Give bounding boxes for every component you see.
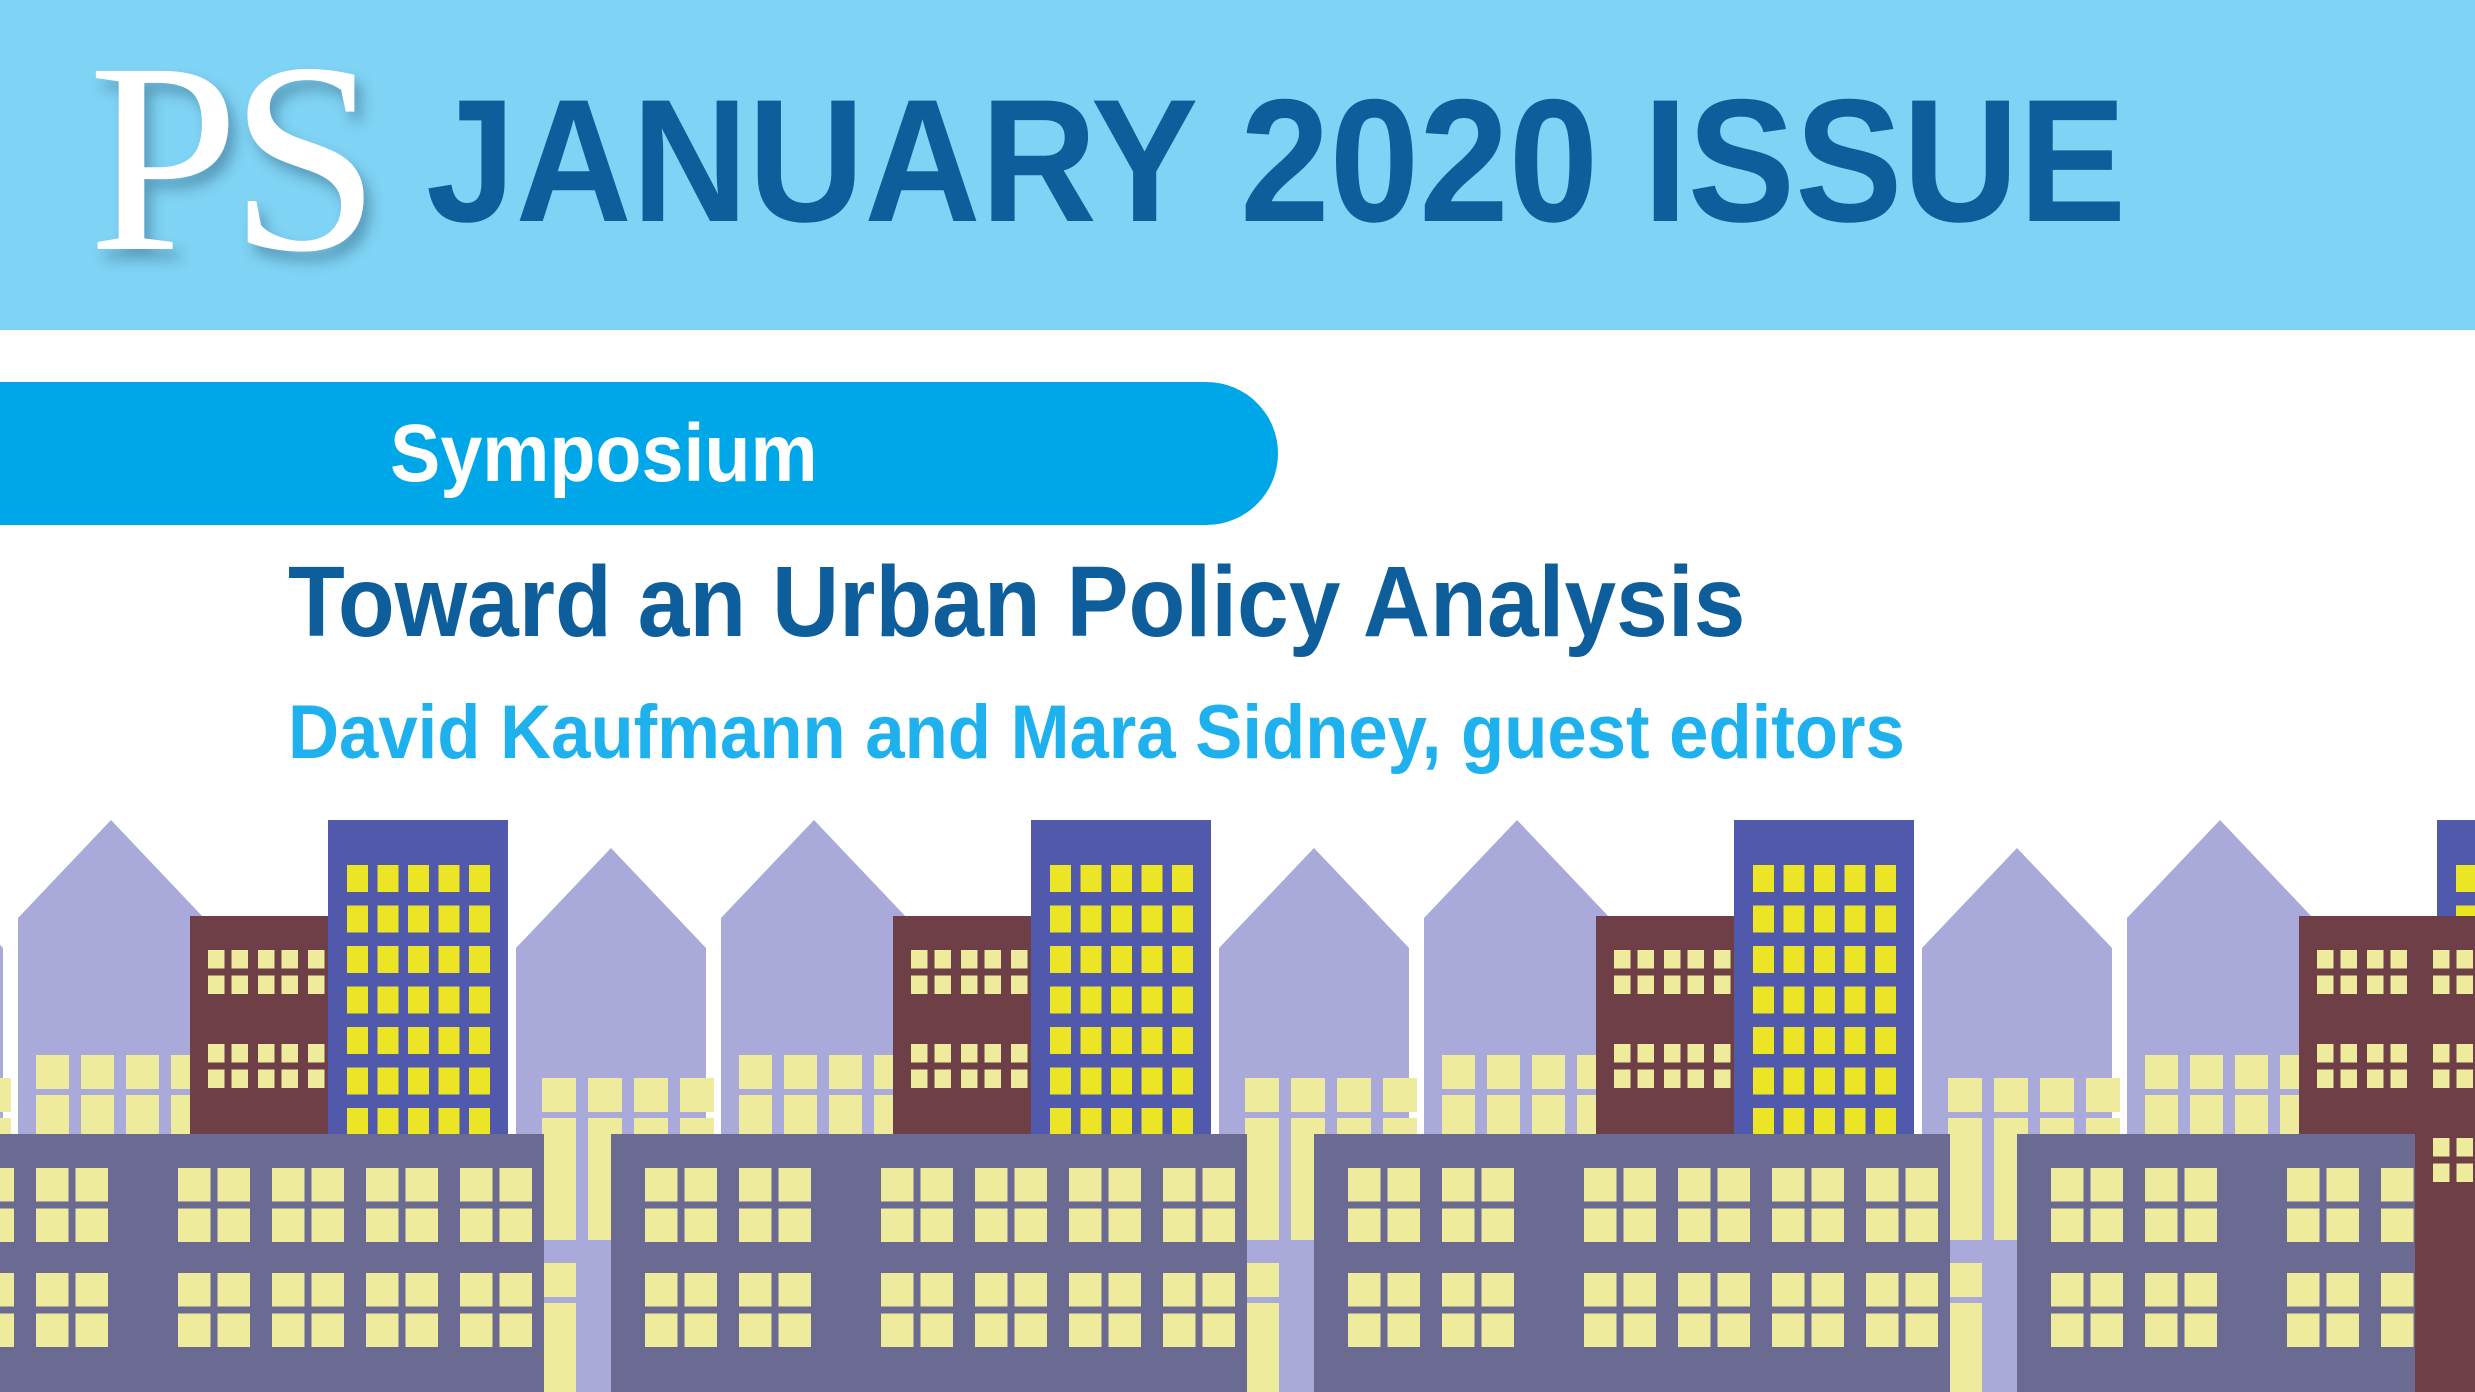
ps-wordmark-logo: PS [88,22,371,294]
building-maroon-midrise [2415,916,2475,1392]
building-slate-foreground-block [144,1134,544,1392]
issue-date-title: JANUARY 2020 ISSUE [426,74,2126,249]
issue-cover: PS JANUARY 2020 ISSUE Symposium Toward a… [0,0,2475,1392]
cityscape-illustration [0,820,2475,1392]
symposium-badge-label: Symposium [390,413,818,495]
issue-header-content: PS JANUARY 2020 ISSUE [0,0,2475,330]
symposium-editors: David Kaufmann and Mara Sidney, guest ed… [288,695,1905,771]
building-slate-foreground-block [1314,1134,1550,1392]
building-slate-foreground-block [2017,1134,2253,1392]
building-slate-foreground-block [611,1134,847,1392]
building-slate-foreground-block [1550,1134,1950,1392]
building-slate-foreground-block [0,1134,144,1392]
symposium-badge: Symposium [0,382,1278,525]
building-slate-foreground-block [847,1134,1247,1392]
symposium-title: Toward an Urban Policy Analysis [288,552,1745,652]
slate-body [0,1134,144,1392]
cityscape-svg [0,820,2475,1392]
issue-header-bar: PS JANUARY 2020 ISSUE [0,0,2475,330]
